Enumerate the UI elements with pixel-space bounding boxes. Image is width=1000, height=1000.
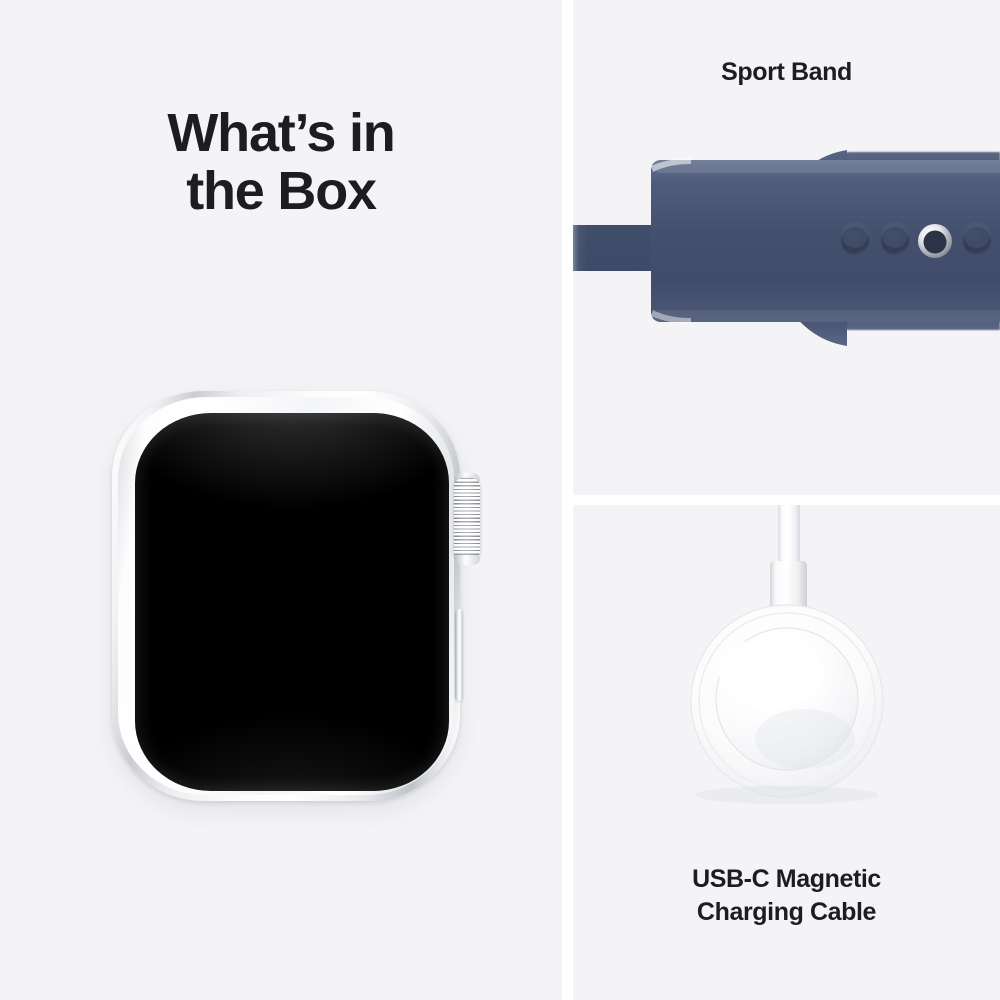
charging-cable-cord bbox=[778, 505, 800, 567]
charging-puck-highlight bbox=[719, 637, 823, 709]
watch-case bbox=[112, 391, 460, 801]
sport-band-bottom-highlight bbox=[651, 310, 1000, 322]
apple-watch-image bbox=[112, 391, 460, 801]
charging-cable-caption-line-2: Charging Cable bbox=[573, 896, 1000, 929]
page-title-line-1: What’s in bbox=[0, 104, 562, 162]
sport-band-hole-1-rim bbox=[842, 222, 868, 248]
panel-charging-cable: USB-C Magnetic Charging Cable bbox=[573, 505, 1000, 1000]
digital-crown-icon bbox=[454, 478, 480, 560]
panel-whats-in-the-box: What’s in the Box bbox=[0, 0, 562, 1000]
page-title: What’s in the Box bbox=[0, 104, 562, 220]
side-button-icon bbox=[455, 609, 463, 701]
digital-crown-bottom-cap bbox=[454, 555, 480, 565]
sport-band-image bbox=[573, 0, 1000, 495]
watch-display-glare bbox=[135, 413, 449, 791]
sport-band-pin-hole bbox=[924, 231, 947, 254]
charging-cable-caption-line-1: USB-C Magnetic bbox=[573, 863, 1000, 896]
watch-display bbox=[135, 413, 449, 791]
sport-band-illustration bbox=[573, 0, 1000, 495]
watch-case-inner-bezel bbox=[118, 397, 454, 795]
charging-puck-ground-shadow bbox=[695, 786, 879, 804]
sport-band-hole-4-rim bbox=[964, 222, 990, 248]
sport-band-top-highlight bbox=[651, 160, 1000, 173]
charging-cable-caption: USB-C Magnetic Charging Cable bbox=[573, 863, 1000, 929]
sport-band-hole-2-rim bbox=[882, 222, 908, 248]
page-title-line-2: the Box bbox=[0, 162, 562, 220]
sport-band-cut-edge bbox=[573, 225, 587, 271]
charging-puck-shadow bbox=[755, 709, 855, 769]
panel-sport-band: Sport Band bbox=[573, 0, 1000, 495]
product-gallery-what-is-in-the-box: What’s in the Box Sport Band bbox=[0, 0, 1000, 1000]
